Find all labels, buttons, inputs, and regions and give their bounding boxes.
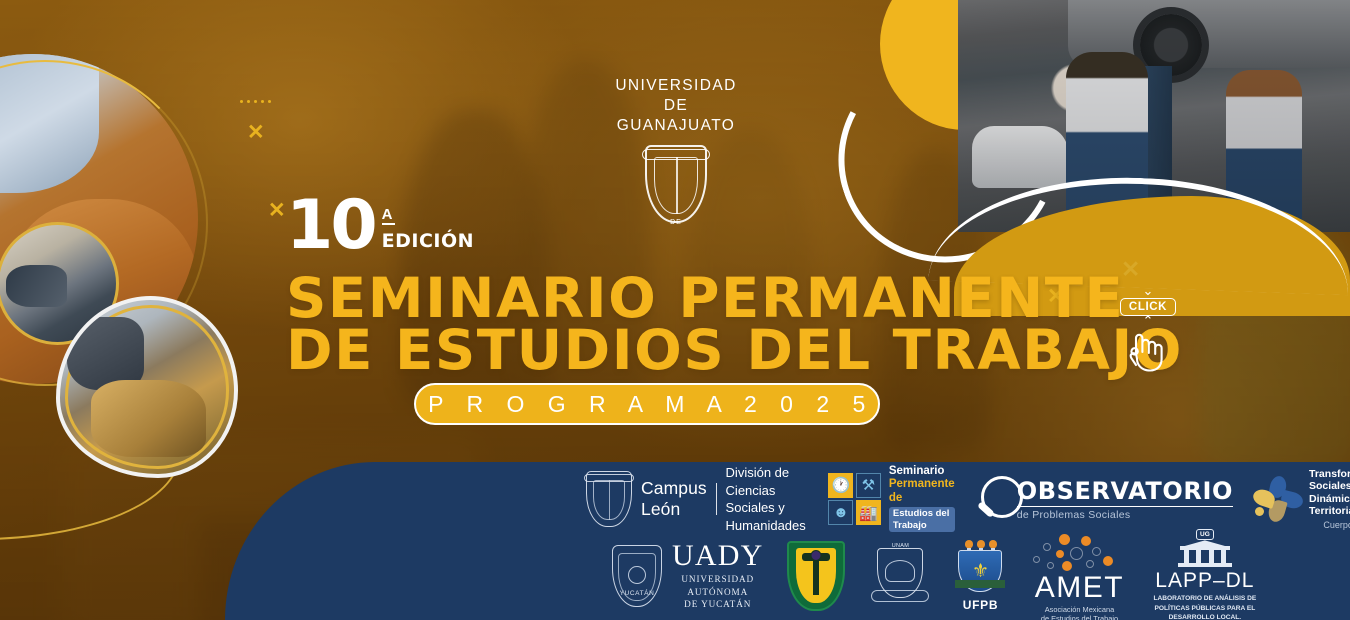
factory-icon: 🏭 [856, 500, 881, 525]
decorative-x-mark: ✕ [247, 122, 265, 143]
university-name-line1: UNIVERSIDAD DE [601, 76, 751, 116]
uady-seal-text: YUCATÁN [612, 590, 662, 597]
magnifier-icon [977, 476, 1023, 522]
logo-seminario-permanente[interactable]: 🕐 ⚒ ☻ 🏭 Seminario Permanente de Estudios… [828, 465, 954, 534]
left-photo-collage [0, 40, 300, 460]
ug-crest-icon [586, 471, 632, 527]
observatorio-subtitle: de Problemas Sociales [1017, 509, 1233, 521]
lapp-sub-line1: LABORATORIO DE ANÁLISIS DE [1153, 594, 1256, 603]
uady-sub-line3: DE YUCATÁN [672, 598, 763, 611]
logo-observatorio[interactable]: OBSERVATORIO de Problemas Sociales [977, 476, 1233, 522]
campus-leon-sub-line1: División de Ciencias [726, 464, 807, 499]
crest-motto: DE [645, 219, 707, 226]
logo-amet[interactable]: AMET Asociación Mexicana de Estudios del… [1029, 528, 1129, 620]
photo-street-vendor [56, 296, 238, 478]
page-title-line1: SEMINARIO PERMANENTE [286, 272, 1124, 325]
lapp-sub-line3: DESARROLLO LOCAL. [1153, 613, 1256, 620]
decorative-dot-row [240, 100, 271, 103]
ufpb-shield-icon: ⚜ [955, 540, 1005, 596]
amet-sub-line1: Asociación Mexicana [1029, 605, 1129, 615]
pointing-hand-icon [1102, 328, 1194, 377]
edition-label: 10 A EDICIÓN [286, 198, 474, 254]
seminario-line1: Seminario [889, 465, 955, 479]
click-cta-widget[interactable]: ⌄ CLICK ⌃ [1102, 288, 1194, 377]
lapp-acronym: LAPP–DL [1153, 569, 1256, 593]
event-banner: UNIVERSIDAD DE GUANAJUATO DE ✕ ✕ ✕ ✕ 10 … [0, 0, 1350, 620]
transformaciones-line4: Cuerpo Académico [1309, 520, 1350, 531]
worker-avatar-icon: ☻ [828, 500, 853, 525]
logo-campus-leon[interactable]: Campus León División de Ciencias Sociale… [586, 464, 806, 534]
chevron-up-icon: ⌃ [1102, 318, 1194, 326]
seminario-line2: Permanente de [889, 478, 955, 505]
factory-worker-icon: ⚒ [856, 473, 881, 498]
page-title-line2: DE ESTUDIOS DEL TRABAJO [286, 324, 1183, 377]
university-logo: UNIVERSIDAD DE GUANAJUATO DE [601, 76, 751, 223]
seminario-icon-grid: 🕐 ⚒ ☻ 🏭 [828, 473, 881, 526]
transformaciones-line2: Sociales y [1309, 480, 1350, 493]
ug-badge: UG [1196, 529, 1214, 540]
people-circle-icon [1255, 476, 1301, 522]
amet-acronym: AMET [1029, 574, 1129, 603]
green-shield-icon[interactable] [787, 541, 845, 611]
ufpb-label: UFPB [955, 598, 1005, 612]
campus-leon-label: Campus León [641, 478, 707, 520]
divider [716, 483, 717, 515]
unam-seal-icon[interactable]: UNAM [869, 544, 931, 608]
decorative-x-mark: ✕ [268, 200, 286, 221]
sponsor-row-2: YUCATÁN UADY UNIVERSIDAD AUTÓNOMA DE YUC… [612, 528, 1256, 620]
sponsor-row-1: Campus León División de Ciencias Sociale… [586, 464, 1350, 534]
logo-ufpb[interactable]: ⚜ UFPB [955, 540, 1005, 612]
amet-sub-line2: de Estudios del Trabajo [1029, 614, 1129, 620]
university-name-line2: GUANAJUATO [601, 116, 751, 136]
chevron-down-icon: ⌄ [1102, 288, 1194, 296]
ug-crest-icon: DE [645, 145, 707, 223]
transformaciones-line3: Dinámicas Territoriales [1309, 493, 1350, 518]
logo-uady[interactable]: YUCATÁN UADY UNIVERSIDAD AUTÓNOMA DE YUC… [612, 541, 763, 611]
programa-2025-button[interactable]: P R O G R A M A 2 0 2 5 [414, 383, 880, 425]
molecule-dots-icon [1029, 534, 1129, 572]
uady-sub-line2: AUTÓNOMA [672, 586, 763, 599]
edition-ordinal: A [382, 208, 395, 225]
clock-icon: 🕐 [828, 473, 853, 498]
temple-icon: UG [1176, 529, 1234, 567]
edition-number: 10 [286, 198, 375, 254]
logo-lapp-dl[interactable]: UG LAPP–DL LABORATORIO DE ANÁLISIS DE PO… [1153, 529, 1256, 620]
logo-transformaciones-sociales[interactable]: Transformaciones Sociales y Dinámicas Te… [1255, 468, 1350, 531]
lapp-sub-line2: POLÍTICAS PÚBLICAS PARA EL [1153, 604, 1256, 613]
observatorio-title: OBSERVATORIO [1017, 477, 1233, 507]
transformaciones-line1: Transformaciones [1309, 468, 1350, 481]
uady-seal-icon: YUCATÁN [612, 545, 662, 607]
edition-word: EDICIÓN [382, 230, 474, 252]
uady-acronym: UADY [672, 541, 763, 571]
uady-sub-line1: UNIVERSIDAD [672, 573, 763, 586]
